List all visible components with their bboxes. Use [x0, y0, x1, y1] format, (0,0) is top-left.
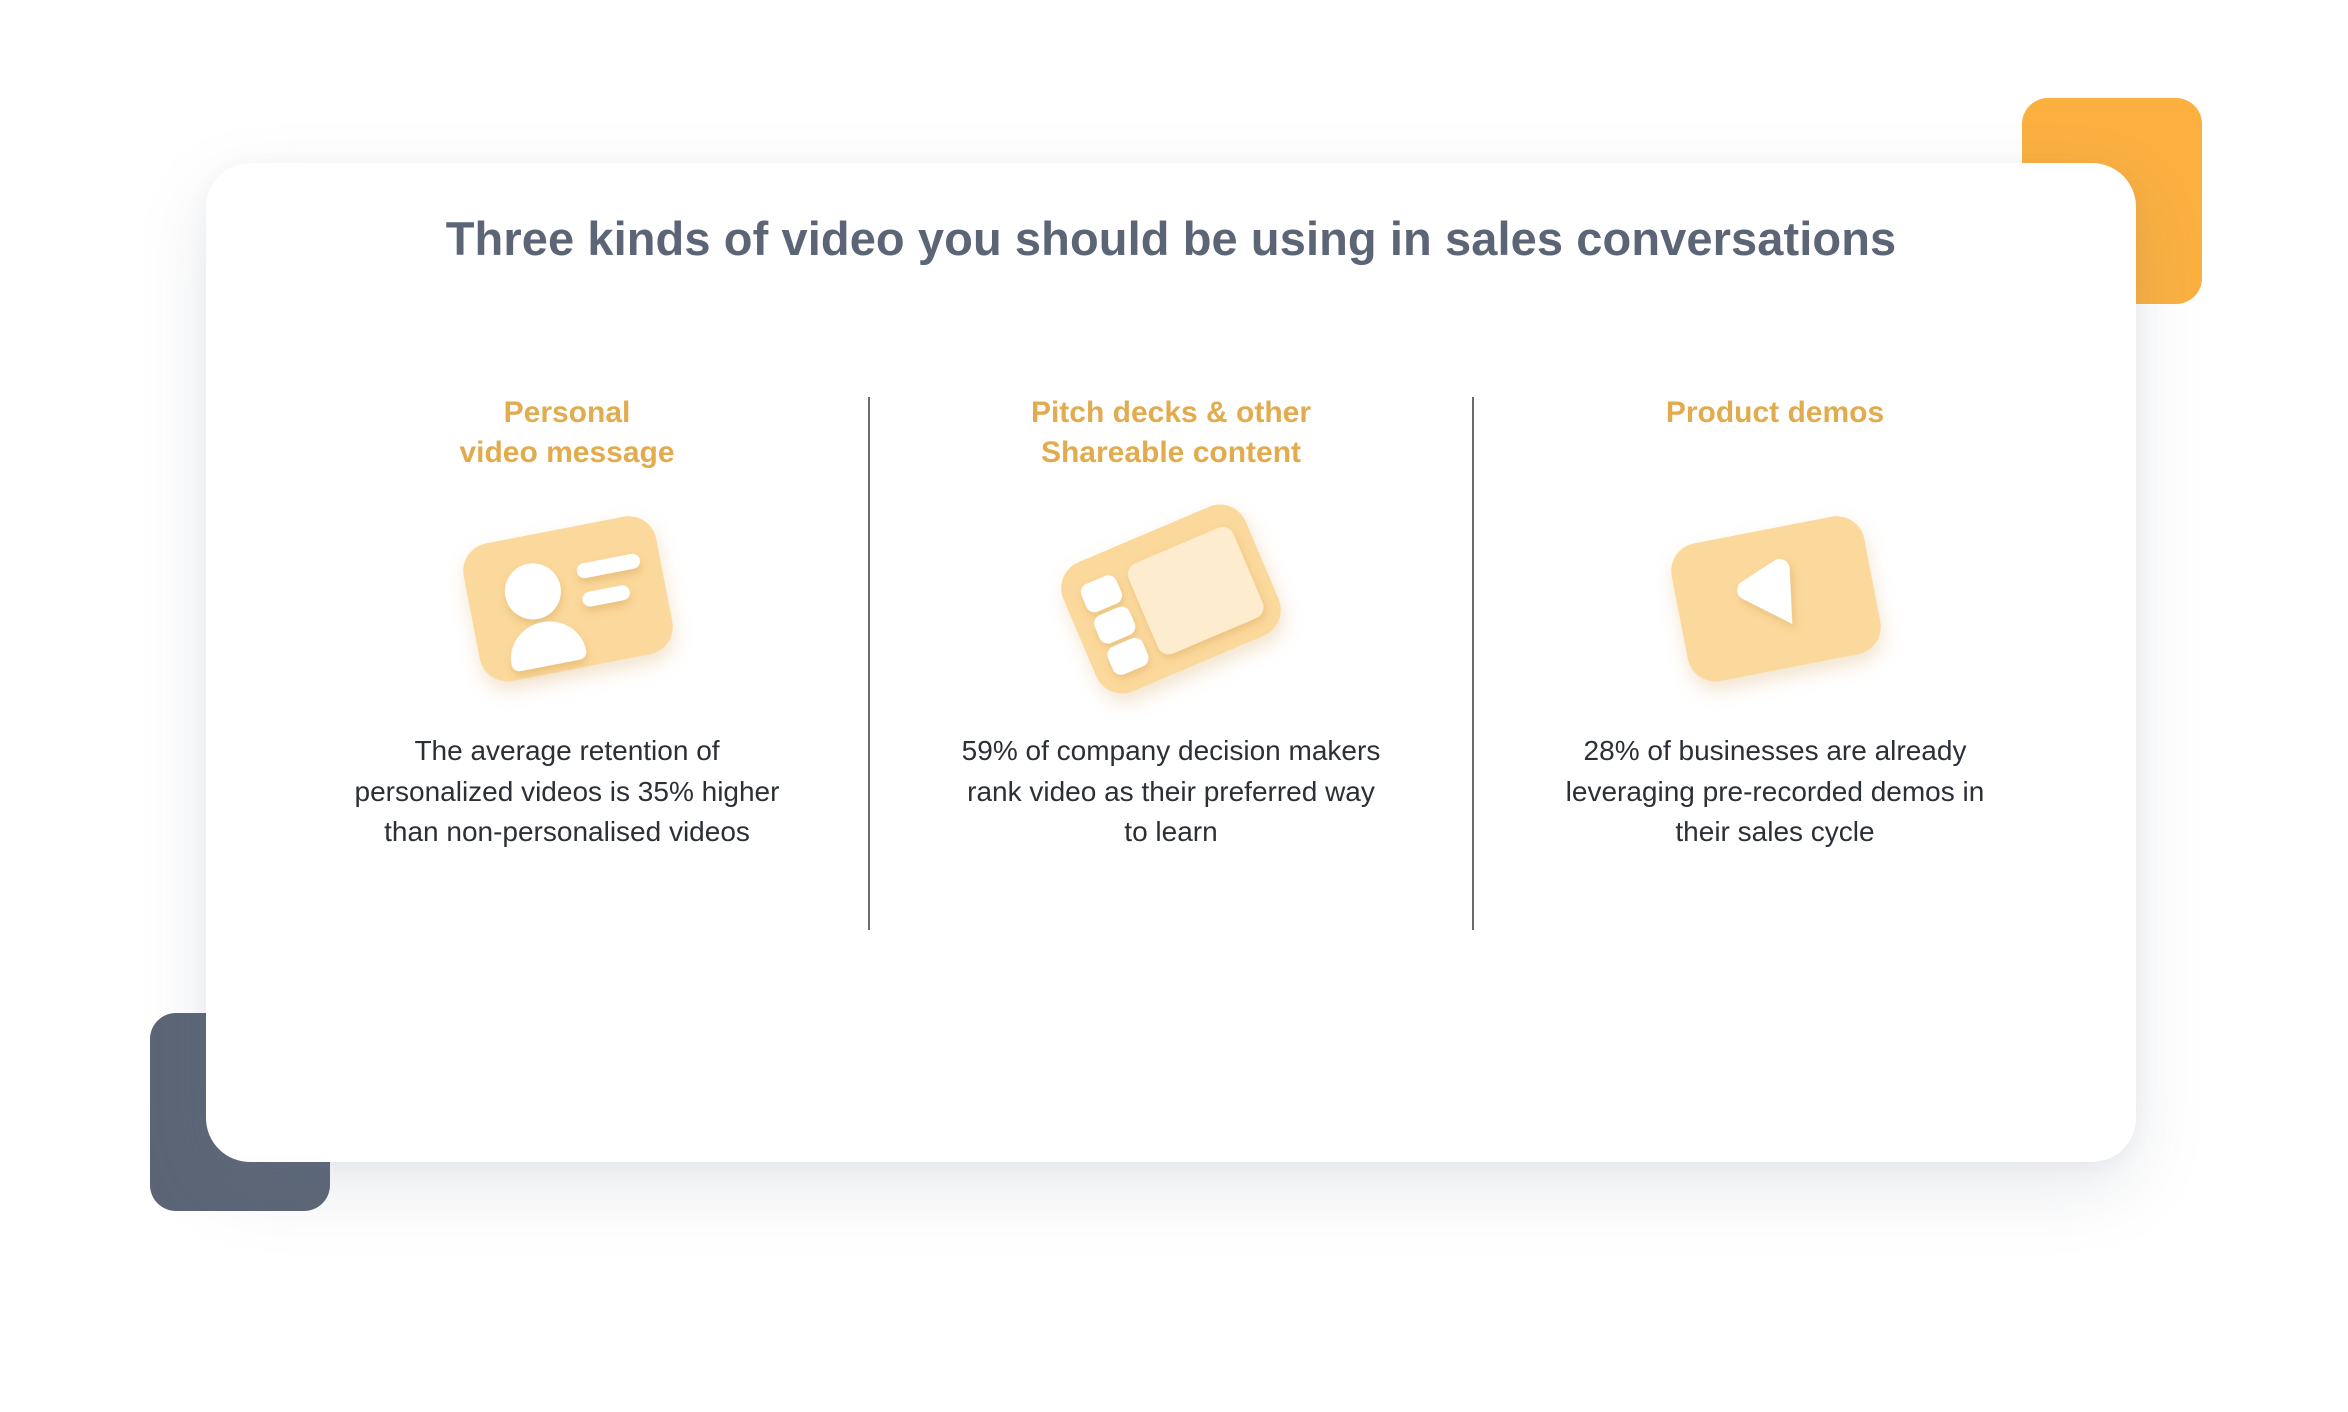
column-heading-line-2: video message — [459, 433, 674, 473]
column-body-text: 59% of company decision makers rank vide… — [956, 731, 1386, 853]
column-heading-line-2: Shareable content — [1031, 433, 1311, 473]
column-heading: Personal video message — [459, 393, 674, 473]
column-body-text: The average retention of personalized vi… — [352, 731, 782, 853]
column-heading: Pitch decks & other Shareable content — [1031, 393, 1311, 473]
column-heading-line-1: Personal — [459, 393, 674, 433]
column-heading-line-1: Product demos — [1666, 393, 1884, 433]
play-video-icon — [1625, 499, 1925, 699]
column-pitch-decks-shareable-content: Pitch decks & other Shareable content — [870, 393, 1472, 853]
column-heading-line-1: Pitch decks & other — [1031, 393, 1311, 433]
column-heading: Product demos — [1666, 393, 1884, 473]
infographic-canvas: Three kinds of video you should be using… — [0, 0, 2348, 1412]
column-product-demos: Product demos — [1474, 393, 2076, 853]
page-title: Three kinds of video you should be using… — [206, 211, 2136, 266]
slide-deck-icon — [1021, 499, 1321, 699]
contact-card-icon — [417, 499, 717, 699]
column-body-text: 28% of businesses are already leveraging… — [1560, 731, 1990, 853]
content-card: Three kinds of video you should be using… — [206, 163, 2136, 1162]
column-personal-video-message: Personal video message — [266, 393, 868, 853]
columns-container: Personal video message — [266, 393, 2076, 930]
